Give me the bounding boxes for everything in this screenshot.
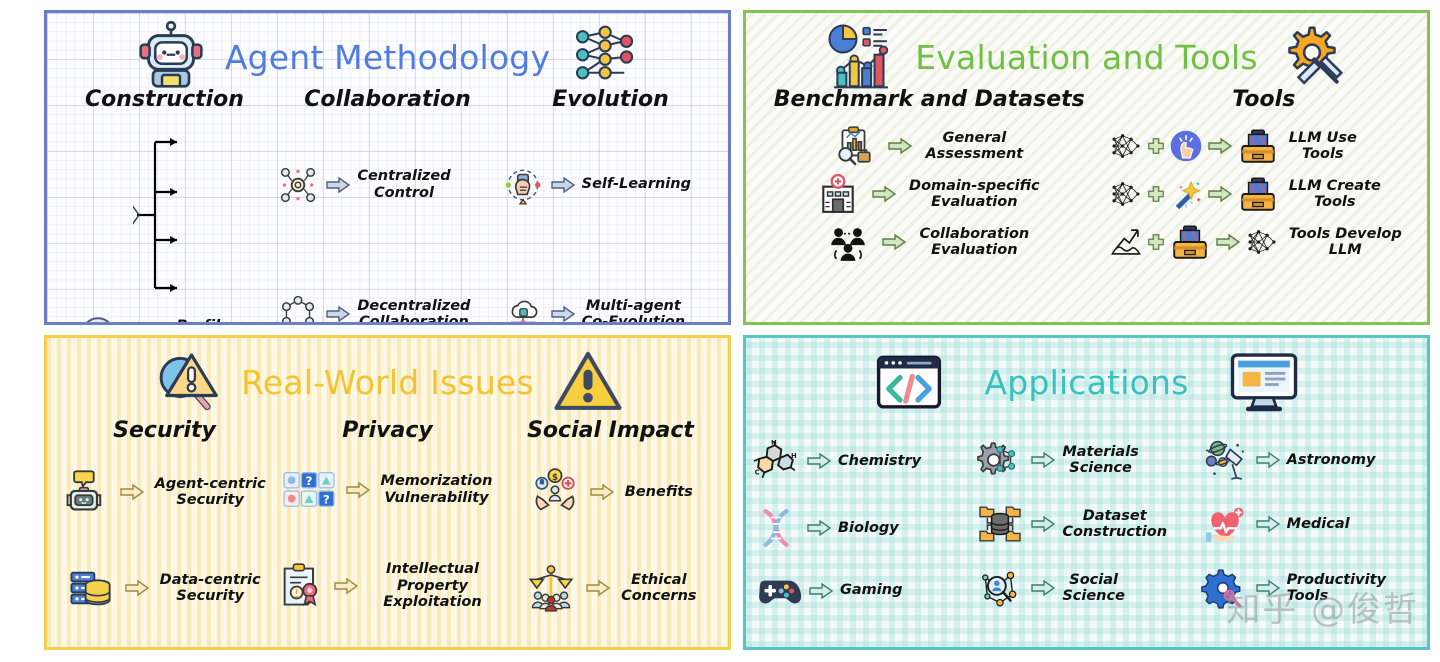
arrow-icon — [1030, 449, 1056, 471]
applications-column-2: Materials Science — [974, 436, 1198, 612]
robot-chat-icon — [61, 468, 109, 516]
patent-clipboard-icon — [277, 562, 325, 610]
item-intellectual-property-exploitation: Intellectual Property Exploitation — [275, 558, 499, 613]
item-tools-develop-llm: Tools Develop LLM — [1107, 218, 1423, 266]
item-self-learning: Self-Learning — [500, 161, 724, 209]
methodology-header: Agent Methodology — [47, 13, 728, 97]
warning-magnifier-icon — [151, 346, 223, 418]
arrow-icon — [871, 183, 897, 205]
arrow-icon — [1207, 135, 1233, 157]
label-tools-develop-llm: Tools Develop LLM — [1289, 226, 1402, 259]
arrow-icon — [1255, 577, 1281, 599]
label-gaming: Gaming — [840, 582, 902, 598]
panel-agent-methodology: Agent Methodology Construction — [44, 10, 731, 325]
ethics-scale-icon — [527, 564, 575, 612]
item-dataset-construction: Dataset Construction — [974, 500, 1198, 548]
label-general-assessment: General Assessment — [925, 130, 1023, 163]
centralized-network-icon — [277, 164, 319, 206]
neural-net-icon — [1109, 129, 1143, 163]
applications-column-1: H H C Chemistry — [750, 436, 974, 612]
column-tools: LLM Use Tools — [1107, 122, 1423, 266]
database-server-icon — [66, 564, 114, 612]
arrow-icon — [1030, 577, 1056, 599]
svg-text:H: H — [791, 452, 797, 460]
arrow-icon — [119, 481, 145, 503]
toolbox-icon — [1237, 125, 1279, 167]
arrow-icon — [1255, 513, 1281, 535]
label-self-learning: Self-Learning — [582, 176, 691, 192]
plus-icon — [1147, 137, 1165, 155]
applications-header: Applications — [746, 338, 1427, 422]
cloud-multiagent-icon — [502, 293, 544, 325]
toolbox-icon — [1237, 173, 1279, 215]
item-materials-science: Materials Science — [974, 436, 1198, 484]
growth-chart-icon — [1109, 225, 1143, 259]
label-profile-definition: Profile Definition — [157, 318, 249, 325]
decentralized-ring-icon — [277, 293, 319, 325]
label-llm-create-tools: LLM Create Tools — [1289, 178, 1381, 211]
robot-icon — [135, 21, 207, 93]
column-construction: Profile Definition — [51, 120, 275, 325]
item-domain-specific-evaluation: Domain-specific Evaluation — [750, 170, 1107, 218]
molecule-chemistry-icon: H H C — [752, 440, 800, 482]
label-agent-centric-security: Agent-centric Security — [155, 476, 266, 509]
arrow-icon — [325, 303, 351, 325]
applications-columns: H H C Chemistry — [746, 422, 1427, 616]
item-collaboration-evaluation: Collaboration Evaluation — [750, 218, 1107, 266]
plus-icon — [1147, 185, 1165, 203]
label-multi-agent-co-evolution: Multi-agent Co-Evolution — [582, 298, 685, 325]
arrow-icon — [125, 323, 151, 325]
svg-text:H: H — [771, 440, 777, 447]
panel-applications: Applications — [743, 335, 1430, 650]
label-social-science: Social Science — [1062, 572, 1125, 605]
arrow-icon — [585, 577, 611, 599]
infographic-board: Agent Methodology Construction — [0, 0, 1440, 662]
monitor-screen-icon — [1228, 346, 1300, 418]
item-agent-centric-security: Agent-centric Security — [51, 465, 275, 519]
arrow-icon — [345, 479, 371, 501]
item-multi-agent-co-evolution: Multi-agent Co-Evolution — [500, 290, 724, 325]
methodology-columns: Profile Definition — [47, 112, 728, 325]
arrow-icon — [806, 450, 832, 472]
label-collaboration-evaluation: Collaboration Evaluation — [919, 226, 1029, 259]
gamepad-icon — [752, 574, 802, 608]
construction-branch-connector — [133, 120, 193, 310]
item-chemistry: H H C Chemistry — [750, 437, 974, 485]
benefits-hands-icon: $ — [531, 468, 579, 516]
column-social-impact: $ Benefits — [500, 465, 724, 615]
click-hand-icon — [1169, 129, 1203, 163]
column-privacy: ? ? Memorization Vulnerability — [275, 465, 499, 615]
captcha-grid-icon: ? ? — [283, 470, 335, 510]
hospital-building-icon — [817, 173, 859, 215]
applications-title: Applications — [985, 363, 1189, 402]
arrow-icon — [1215, 231, 1241, 253]
item-profile-definition: Profile Definition — [75, 310, 251, 325]
label-memorization-vulnerability: Memorization Vulnerability — [381, 473, 493, 506]
code-window-icon — [873, 346, 945, 418]
telescope-space-icon — [1201, 439, 1249, 481]
item-llm-create-tools: LLM Create Tools — [1107, 170, 1423, 218]
arrow-icon — [1255, 449, 1281, 471]
arrow-icon — [808, 580, 834, 602]
label-dataset-construction: Dataset Construction — [1062, 508, 1167, 541]
label-benefits: Benefits — [625, 484, 693, 500]
toolbox-icon — [1169, 221, 1211, 263]
label-materials-science: Materials Science — [1062, 444, 1139, 477]
svg-text:$: $ — [552, 473, 558, 483]
item-benefits: $ Benefits — [500, 465, 724, 519]
item-general-assessment: General Assessment — [750, 122, 1107, 170]
panel-real-world-issues: Real-World Issues Security Privacy Socia… — [44, 335, 731, 650]
item-medical: Medical — [1199, 500, 1423, 548]
label-medical: Medical — [1287, 516, 1350, 532]
label-intellectual-property-exploitation: Intellectual Property Exploitation — [367, 561, 497, 610]
heart-medical-icon — [1201, 503, 1249, 545]
self-learning-head-icon — [502, 164, 544, 206]
panel-evaluation-and-tools: Evaluation and Tools Benchmark and Datas… — [743, 10, 1430, 325]
label-chemistry: Chemistry — [838, 453, 921, 469]
arrow-icon — [325, 174, 351, 196]
magic-wand-icon — [1169, 177, 1203, 211]
item-ethical-concerns: Ethical Concerns — [500, 561, 724, 615]
item-data-centric-security: Data-centric Security — [51, 561, 275, 615]
dna-helix-icon — [752, 507, 800, 549]
neural-net-icon — [1109, 177, 1143, 211]
issues-columns: Agent-centric Security — [47, 443, 728, 619]
item-decentralized-collaboration: Decentralized Collaboration — [275, 290, 499, 325]
arrow-icon — [1207, 183, 1233, 205]
report-magnifier-icon — [833, 125, 875, 167]
item-gaming: Gaming — [750, 571, 974, 611]
item-productivity-tools: Productivity Tools — [1199, 564, 1423, 612]
arrow-icon — [589, 481, 615, 503]
evaluation-title: Evaluation and Tools — [915, 38, 1257, 77]
methodology-title: Agent Methodology — [225, 38, 550, 77]
label-biology: Biology — [838, 520, 899, 536]
arrow-icon — [550, 174, 576, 196]
evaluation-columns: General Assessment — [746, 112, 1427, 270]
construction-items: Profile Definition — [75, 310, 251, 325]
label-domain-specific-evaluation: Domain-specific Evaluation — [909, 178, 1040, 211]
issues-header: Real-World Issues — [47, 338, 728, 422]
people-group-icon — [827, 221, 869, 263]
item-biology: Biology — [750, 504, 974, 552]
network-flow-icon — [568, 21, 640, 93]
item-astronomy: Astronomy — [1199, 436, 1423, 484]
social-network-icon — [976, 567, 1024, 609]
column-evolution: Self-Learning — [500, 120, 724, 325]
item-llm-use-tools: LLM Use Tools — [1107, 122, 1423, 170]
arrow-icon — [887, 135, 913, 157]
label-centralized-control: Centralized Control — [357, 168, 450, 201]
label-productivity-tools: Productivity Tools — [1287, 572, 1386, 605]
arrow-icon — [806, 517, 832, 539]
applications-column-3: Astronomy Medical — [1199, 436, 1423, 612]
svg-text:?: ? — [322, 492, 329, 506]
item-memorization-vulnerability: ? ? Memorization Vulnerability — [275, 467, 499, 513]
svg-text:?: ? — [305, 474, 312, 488]
item-social-science: Social Science — [974, 564, 1198, 612]
svg-text:C: C — [755, 469, 760, 477]
label-decentralized-collaboration: Decentralized Collaboration — [357, 298, 470, 325]
item-centralized-control: Centralized Control — [275, 161, 499, 209]
arrow-icon — [333, 575, 359, 597]
chart-analytics-icon — [825, 21, 897, 93]
neural-net-icon — [1245, 225, 1279, 259]
evaluation-header: Evaluation and Tools — [746, 13, 1427, 97]
arrow-icon — [124, 577, 150, 599]
label-astronomy: Astronomy — [1287, 452, 1376, 468]
user-profile-icon — [77, 313, 119, 325]
plus-icon — [1147, 233, 1165, 251]
gear-materials-icon — [976, 439, 1024, 481]
warning-triangle-icon — [552, 346, 624, 418]
label-ethical-concerns: Ethical Concerns — [621, 572, 696, 605]
arrow-icon — [550, 303, 576, 325]
productivity-gear-icon — [1201, 567, 1249, 609]
arrow-icon — [1030, 513, 1056, 535]
label-data-centric-security: Data-centric Security — [160, 572, 261, 605]
gear-wrench-icon — [1276, 21, 1348, 93]
column-benchmark-and-datasets: General Assessment — [750, 122, 1107, 266]
label-llm-use-tools: LLM Use Tools — [1289, 130, 1357, 163]
column-collaboration: Centralized Control — [275, 120, 499, 325]
issues-title: Real-World Issues — [241, 363, 534, 402]
column-security: Agent-centric Security — [51, 465, 275, 615]
arrow-icon — [881, 231, 907, 253]
dataset-database-icon — [976, 503, 1024, 545]
